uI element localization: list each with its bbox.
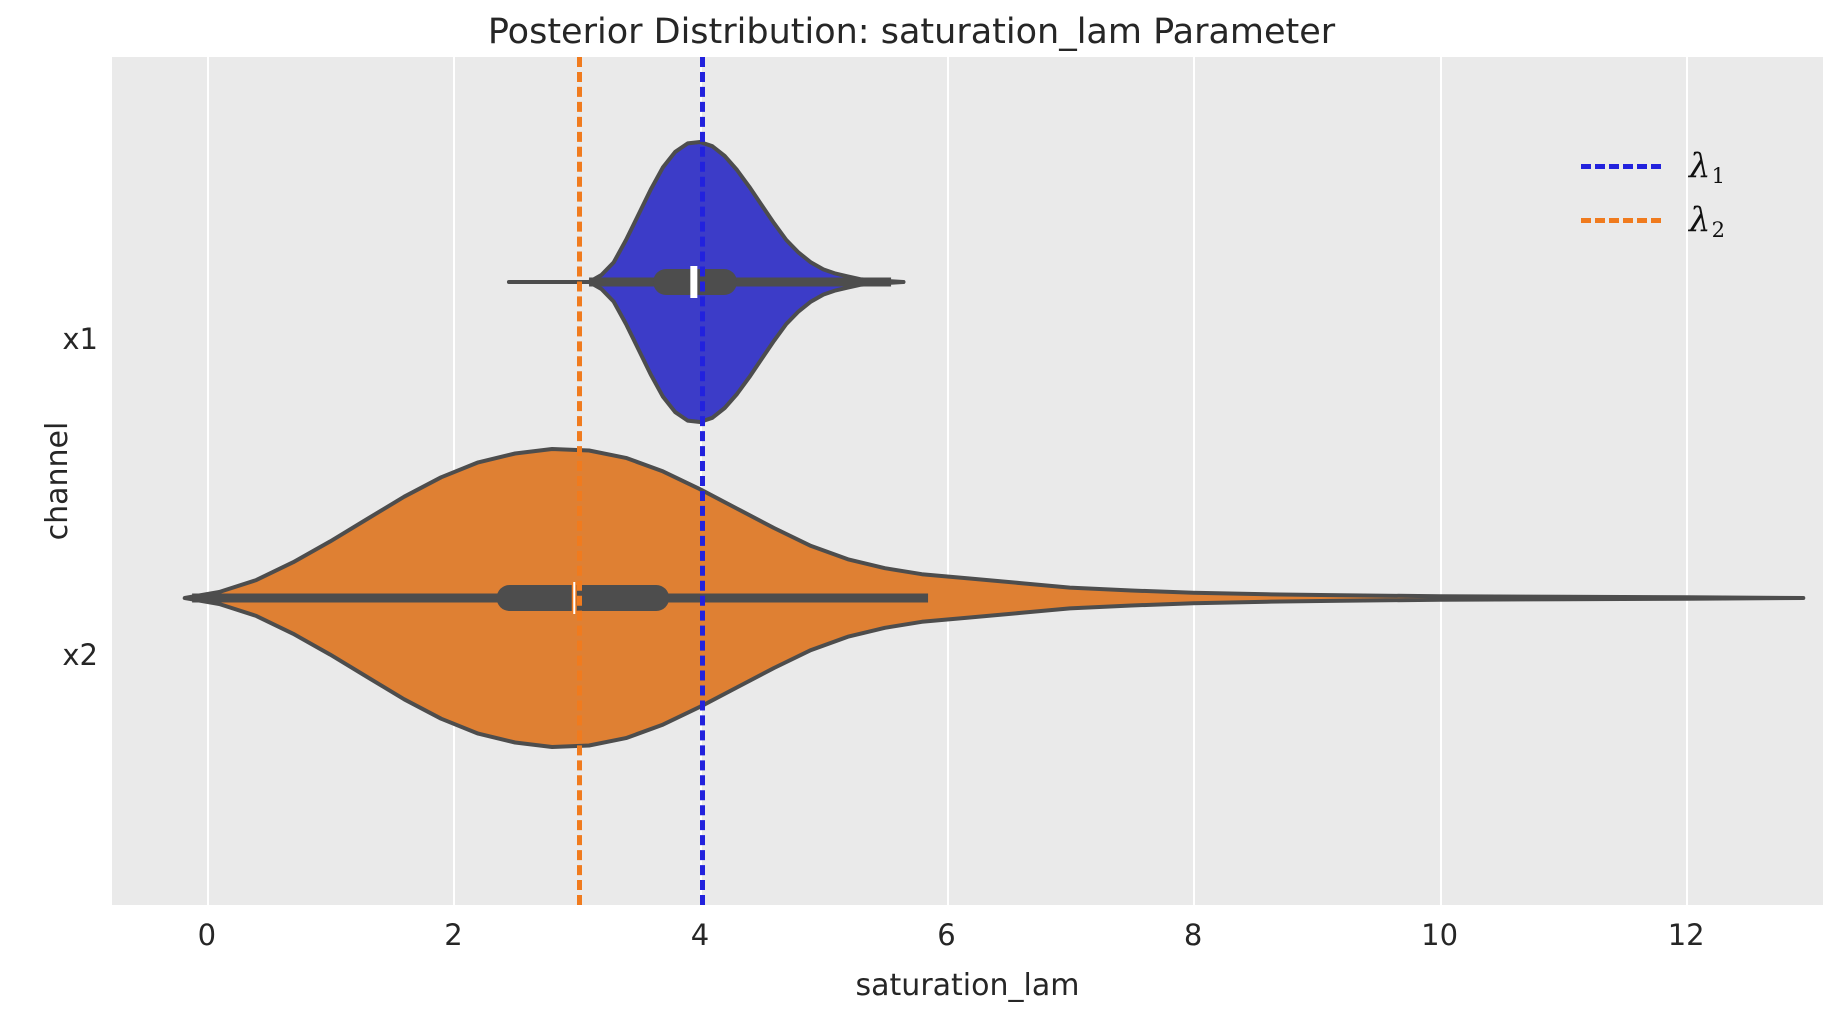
legend-item-lambda2[interactable]: λ2 — [1573, 193, 1813, 247]
y-axis: channel x1 x2 — [0, 57, 112, 905]
x-axis-label: saturation_lam — [112, 968, 1823, 1003]
x-tick-label-6: 6 — [887, 918, 1007, 952]
page-title: Posterior Distribution: saturation_lam P… — [0, 12, 1823, 52]
violin-layer — [112, 57, 1823, 905]
box-iqr-x2 — [497, 585, 670, 611]
y-tick-label-x1: x1 — [12, 322, 112, 356]
lambda1-reference-line — [700, 57, 705, 905]
legend-label-lambda1: λ1 — [1689, 146, 1724, 186]
legend-dash-lambda1-icon — [1581, 164, 1661, 169]
legend-label-lambda2: λ2 — [1689, 200, 1724, 240]
x-tick-label-12: 12 — [1626, 918, 1746, 952]
chart-figure: Posterior Distribution: saturation_lam P… — [0, 0, 1823, 1023]
plot-area: λ1 λ2 — [112, 57, 1823, 905]
x-tick-label-8: 8 — [1133, 918, 1253, 952]
x-tick-label-2: 2 — [393, 918, 513, 952]
y-tick-label-x2: x2 — [12, 638, 112, 672]
x-tick-label-10: 10 — [1380, 918, 1500, 952]
lambda2-reference-line — [577, 57, 582, 905]
legend-dash-lambda2-icon — [1581, 218, 1661, 223]
x-tick-label-4: 4 — [640, 918, 760, 952]
legend: λ1 λ2 — [1573, 139, 1813, 247]
x-tick-label-0: 0 — [147, 918, 267, 952]
legend-item-lambda1[interactable]: λ1 — [1573, 139, 1813, 193]
y-axis-label: channel — [40, 422, 75, 541]
